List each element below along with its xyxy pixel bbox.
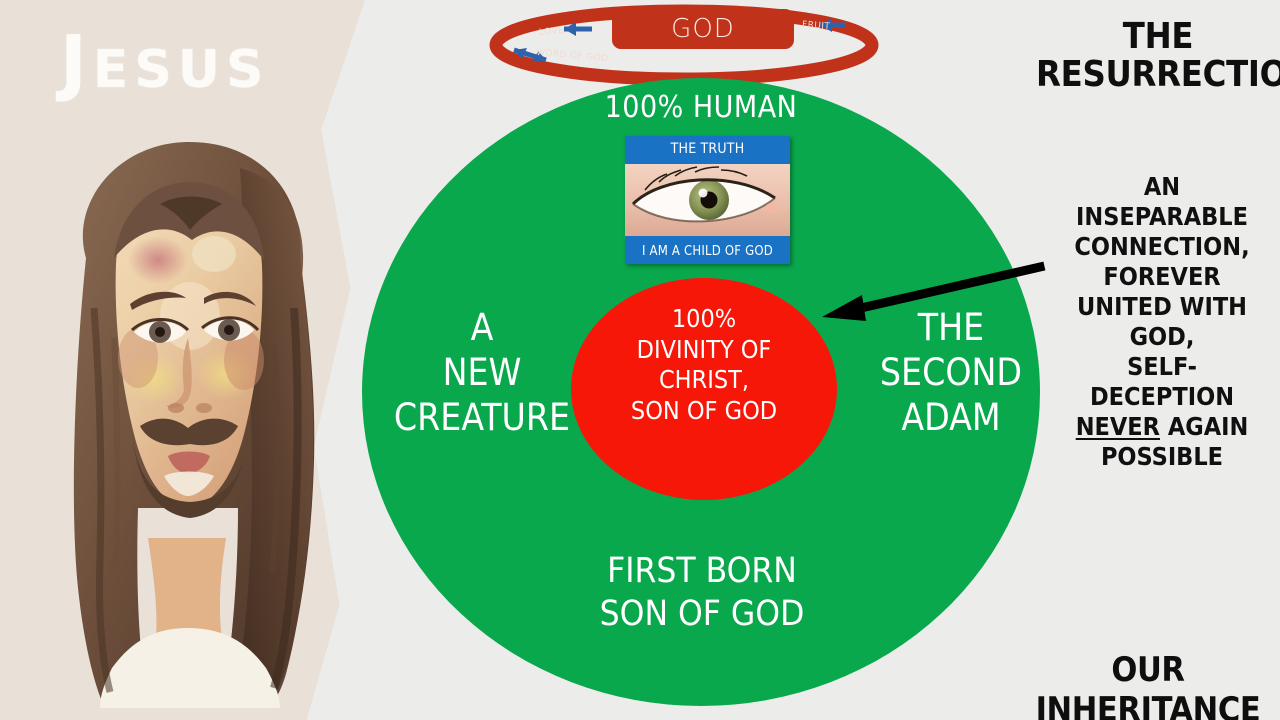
text-line: ADAM [862,395,1040,440]
jesus-portrait-image [8,108,368,708]
page-title-rest: ESUS [93,40,270,100]
underlined-word: NEVER [1076,412,1160,441]
right-heading-line1: THE [1036,18,1280,56]
right-body-text: ANINSEPARABLECONNECTION,FOREVERUNITED WI… [1044,172,1280,472]
truth-card-footer: I AM A CHILD OF GOD [625,244,790,259]
text-line: SON OF GOD [482,593,922,636]
text-line: DIVINITY OF [571,335,837,366]
text-line: NEW [392,350,572,395]
text-line: 100% [571,304,837,335]
text-line: CHRIST, [571,365,837,396]
text-line: UNITED WITH [1044,292,1280,322]
text-line: A [392,305,572,350]
text-line: FIRST BORN [482,550,922,593]
circle-top-label: 100% HUMAN [362,90,1040,125]
text-line: SON OF GOD [571,396,837,427]
text-line: GOD, [1044,322,1280,352]
circle-bottom-label: FIRST BORNSON OF GOD [482,550,922,635]
right-footer: OUR INHERITANCE [1016,650,1280,720]
text-line: POSSIBLE [1044,442,1280,472]
slide-canvas: JESUS GOD LOVE FRUIT WORD OF GO [0,0,1280,720]
text-line-never-again: NEVER AGAIN [1044,412,1280,442]
text-line: CREATURE [392,395,572,440]
right-heading-line2: RESURRECTION [1036,56,1280,94]
text-line: DECEPTION [1044,382,1280,412]
orbit-label-fruit: FRUIT [802,20,831,32]
page-title: JESUS [60,26,269,98]
text-line: AN [1044,172,1280,202]
red-circle-label: 100%DIVINITY OFCHRIST,SON OF GOD [571,304,837,426]
truth-card-header: THE TRUTH [625,141,790,157]
connection-arrow-icon [800,245,1060,335]
circle-left-label: ANEWCREATURE [392,305,572,440]
text-line: SECOND [862,350,1040,395]
text-line: CONNECTION, [1044,232,1280,262]
truth-card: THE TRUTH [625,136,790,264]
page-title-lead: J [60,20,93,104]
text-line: INSEPARABLE [1044,202,1280,232]
text-line: FOREVER [1044,262,1280,292]
text-line: SELF- [1044,352,1280,382]
god-center-box: GOD [612,9,794,49]
right-heading: THE RESURRECTION [1036,18,1280,94]
human-eye-icon [625,164,790,236]
